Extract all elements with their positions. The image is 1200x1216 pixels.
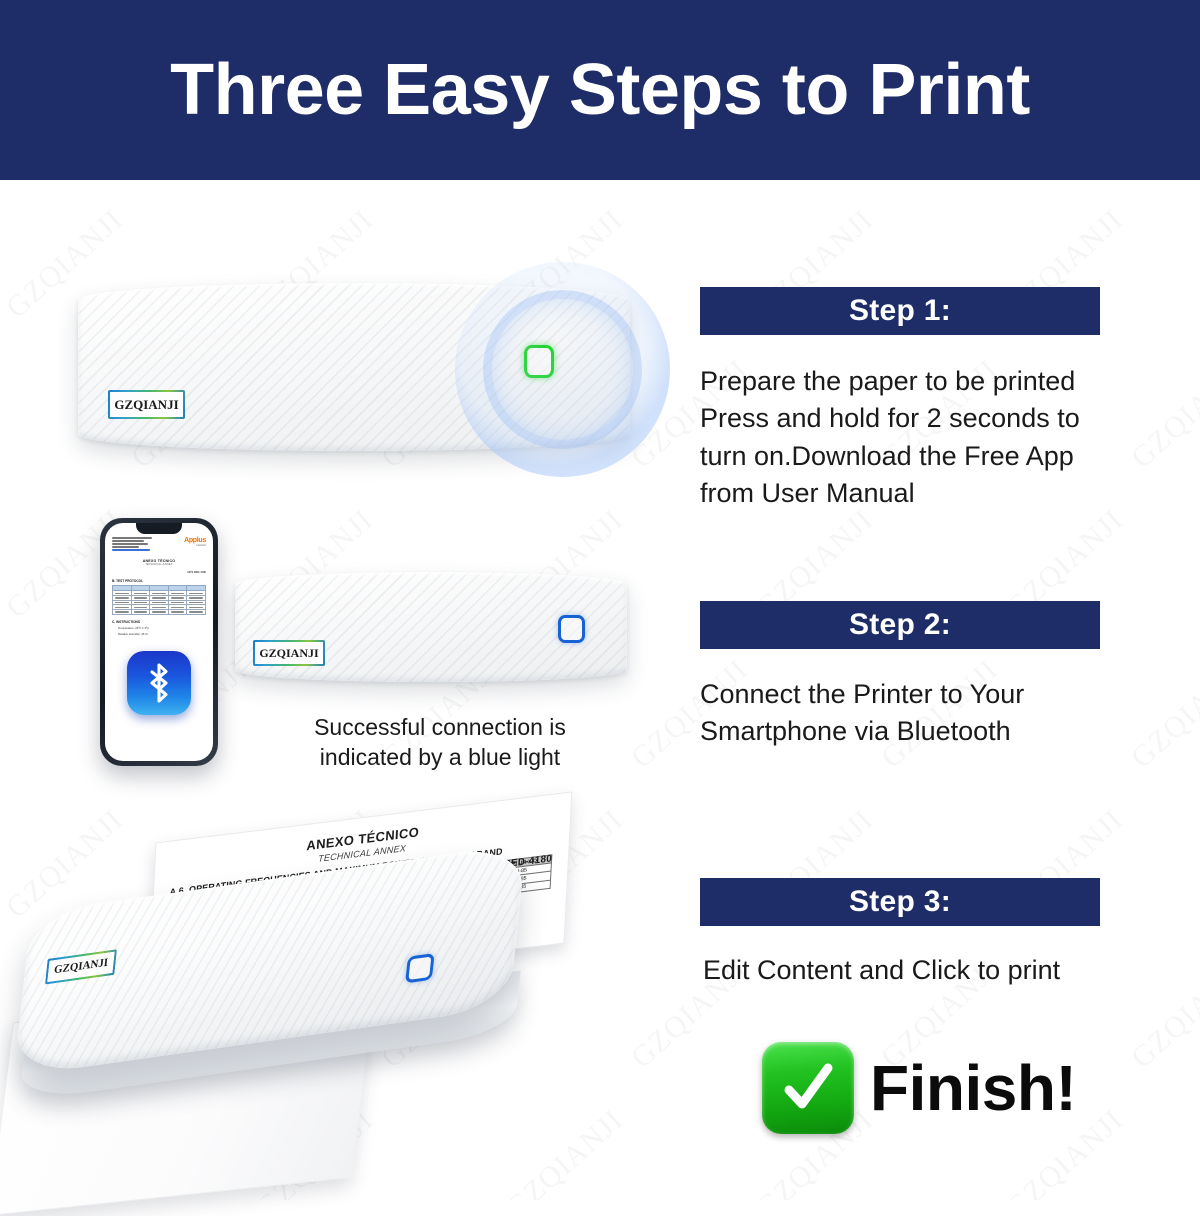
phone-document-preview: Applus Laboratories ANEXO TÉCNICO TECHNI…	[105, 523, 213, 761]
printer-device-step2: GZQIANJI	[235, 572, 627, 682]
phone-doc-section-c: C. INSTRUCTIONS Temperature: 23ºC ± 3ºC …	[112, 620, 206, 636]
smartphone-device: Applus Laboratories ANEXO TÉCNICO TECHNI…	[100, 518, 218, 766]
step-1-line-1: Prepare the paper to be printed	[700, 363, 1120, 400]
phone-doc-company-logo: Applus Laboratories	[184, 537, 206, 547]
step-2-label-bar: Step 2:	[700, 601, 1100, 649]
phone-doc-title: ANEXO TÉCNICO TECHNICAL ANNEX	[112, 559, 206, 566]
step-3-description: Edit Content and Click to print	[703, 952, 1123, 989]
check-mark-icon	[762, 1042, 854, 1134]
brand-watermark: GZQIANJI	[1125, 353, 1200, 475]
step-1-line-2: Press and hold for 2 seconds to	[700, 400, 1120, 437]
brand-logo-text-step3: GZQIANJI	[53, 957, 108, 976]
brand-logo-plate-step2: GZQIANJI	[253, 640, 325, 666]
step-2-line-1: Connect the Printer to Your	[700, 676, 1120, 713]
phone-doc-table	[112, 585, 206, 614]
page-title: Three Easy Steps to Print	[170, 54, 1030, 126]
step-1-description: Prepare the paper to be printed Press an…	[700, 363, 1120, 512]
smartphone-screen: Applus Laboratories ANEXO TÉCNICO TECHNI…	[105, 523, 213, 761]
brand-watermark: GZQIANJI	[0, 653, 5, 775]
header-banner: Three Easy Steps to Print	[0, 0, 1200, 180]
power-button-green-icon[interactable]	[524, 345, 554, 378]
step-3-label-bar: Step 3:	[700, 878, 1100, 926]
caption-line-1: Successful connection is	[280, 712, 600, 742]
printer-device-step1: GZQIANJI	[78, 283, 630, 451]
power-button-blue-icon[interactable]	[558, 615, 585, 643]
step-2-label: Step 2:	[849, 608, 951, 642]
step-3-line-1: Edit Content and Click to print	[703, 952, 1123, 989]
phone-doc-instruction-2: Relative Humidity: 45 %	[118, 632, 206, 636]
phone-doc-instruction-1: Temperature: 23ºC ± 3ºC	[118, 626, 206, 630]
finish-label: Finish!	[870, 1056, 1076, 1120]
phone-doc-reference: 0370-RED-4180	[112, 571, 206, 574]
step-1-label-bar: Step 1:	[700, 287, 1100, 335]
applus-logo-text: Applus	[184, 537, 206, 544]
brand-watermark: GZQIANJI	[0, 353, 5, 475]
brand-logo-text: GZQIANJI	[114, 398, 178, 411]
step-1-label: Step 1:	[849, 294, 951, 328]
phone-doc-address-block	[112, 537, 157, 552]
phone-doc-subtitle-text: TECHNICAL ANNEX	[112, 563, 206, 566]
step-1-line-4: from User Manual	[700, 475, 1120, 512]
power-button-blue-icon-step3[interactable]	[405, 953, 435, 983]
phone-doc-section-c-title: C. INSTRUCTIONS	[112, 620, 206, 624]
step-2-description: Connect the Printer to Your Smartphone v…	[700, 676, 1120, 751]
bluetooth-connection-caption: Successful connection is indicated by a …	[280, 712, 600, 773]
bluetooth-icon[interactable]	[127, 651, 191, 715]
step-1-line-3: turn on.Download the Free App	[700, 438, 1120, 475]
brand-logo-plate-step1: GZQIANJI	[108, 390, 185, 419]
brand-watermark: GZQIANJI	[1125, 953, 1200, 1075]
phone-doc-section-b: B. TEST PROTOCOL	[112, 579, 206, 583]
brand-logo-plate-step3: GZQIANJI	[45, 949, 117, 984]
printing-scene-step3: ANEXO TÉCNICO TECHNICAL ANNEX A.6. OPERA…	[0, 810, 660, 1200]
brand-logo-text-step2: GZQIANJI	[259, 647, 318, 659]
phone-notch	[136, 523, 182, 534]
caption-line-2: indicated by a blue light	[280, 742, 600, 772]
applus-logo-sub: Laboratories	[184, 545, 206, 547]
brand-watermark: GZQIANJI	[1125, 653, 1200, 775]
step-2-line-2: Smartphone via Bluetooth	[700, 713, 1120, 750]
step-3-label: Step 3:	[849, 885, 951, 919]
finish-badge: Finish!	[762, 1042, 1076, 1134]
